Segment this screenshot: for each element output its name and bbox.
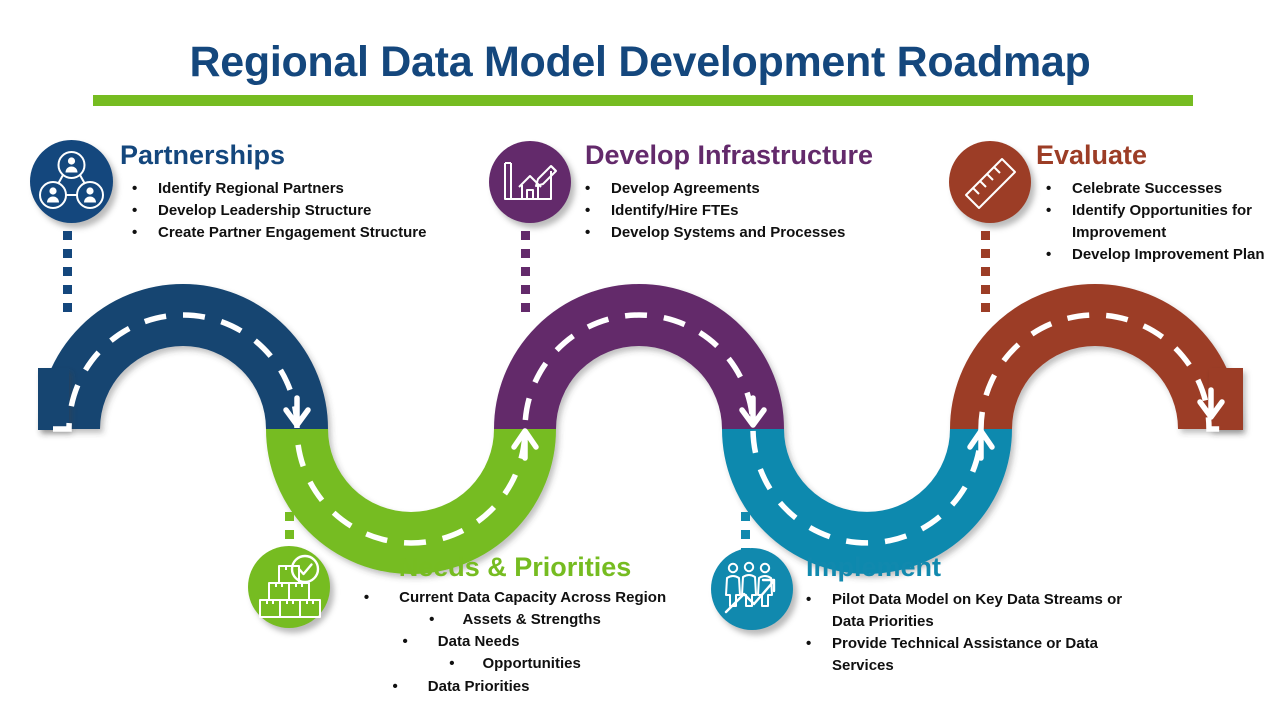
ruler-icon: [949, 141, 1031, 223]
stage-node-develop-infrastructure[interactable]: [489, 141, 571, 223]
bullet-glyph: •: [132, 222, 158, 244]
bullet-glyph: •: [1046, 178, 1072, 200]
stage-heading-partnerships: Partnerships: [120, 141, 540, 169]
list-item: •Pilot Data Model on Key Data Streams or…: [806, 589, 1151, 633]
blueprint-house-pencil-icon: [489, 141, 571, 223]
stage-block-partnerships: Partnerships •Identify Regional Partners…: [120, 141, 540, 244]
list-item: •Opportunities: [330, 653, 700, 675]
road-end-cap-right: [1209, 368, 1243, 430]
bullet-glyph: •: [585, 200, 611, 222]
stage-block-develop-infrastructure: Develop Infrastructure •Develop Agreemen…: [585, 141, 985, 244]
bullet-glyph: •: [393, 676, 398, 698]
road-end-cap-left: [38, 368, 69, 430]
list-item: •Data Needs: [330, 631, 700, 653]
stage-block-needs-priorities: Needs & Priorities •Current Data Capacit…: [330, 553, 700, 698]
list-item: •Data Priorities: [330, 676, 700, 698]
bullet-glyph: •: [806, 633, 832, 655]
list-item: •Celebrate Successes: [1046, 178, 1272, 200]
bullet-glyph: •: [449, 653, 454, 675]
bullet-glyph: •: [132, 178, 158, 200]
stage-heading-evaluate: Evaluate: [1036, 141, 1272, 169]
stage-node-implement[interactable]: [711, 548, 793, 630]
stage-bullets-implement: •Pilot Data Model on Key Data Streams or…: [806, 589, 1151, 677]
list-item: •Identify Regional Partners: [132, 178, 540, 200]
stage-bullets-partnerships: •Identify Regional Partners •Develop Lea…: [120, 178, 540, 244]
bullet-glyph: •: [429, 609, 434, 631]
stacked-boxes-check-icon: [248, 546, 330, 628]
road-segment-teal: [753, 429, 981, 543]
road-segment-navy: [69, 315, 297, 429]
bullet-glyph: •: [1046, 200, 1072, 222]
stage-heading-needs-priorities: Needs & Priorities: [330, 553, 700, 581]
stage-heading-develop-infrastructure: Develop Infrastructure: [585, 141, 985, 169]
people-network-icon: [30, 140, 113, 223]
stage-block-implement: Implement •Pilot Data Model on Key Data …: [806, 553, 1151, 678]
list-item: •Assets & Strengths: [330, 609, 700, 631]
bullet-glyph: •: [585, 222, 611, 244]
list-item: •Create Partner Engagement Structure: [132, 222, 540, 244]
stage-bullets-develop-infrastructure: •Develop Agreements •Identify/Hire FTEs …: [585, 178, 985, 244]
road-segment-brown: [981, 315, 1209, 429]
list-item: •Develop Leadership Structure: [132, 200, 540, 222]
bullet-glyph: •: [585, 178, 611, 200]
connector-evaluate: [981, 231, 990, 321]
stage-node-partnerships[interactable]: [30, 140, 113, 223]
bullet-glyph: •: [1046, 244, 1072, 266]
road-segment-green: [297, 429, 525, 543]
bullet-glyph: •: [806, 589, 832, 611]
road-segment-purple: [525, 315, 753, 429]
stage-node-needs-priorities[interactable]: [248, 546, 330, 628]
list-item: •Identify Opportunities for Improvement: [1046, 200, 1272, 244]
bullet-glyph: •: [364, 587, 369, 609]
list-item: •Develop Systems and Processes: [585, 222, 985, 244]
connector-develop-infrastructure: [521, 231, 530, 321]
stage-node-evaluate[interactable]: [949, 141, 1031, 223]
stage-block-evaluate: Evaluate •Celebrate Successes •Identify …: [1036, 141, 1272, 267]
list-item: •Current Data Capacity Across Region: [330, 587, 700, 609]
list-item: •Identify/Hire FTEs: [585, 200, 985, 222]
stage-heading-implement: Implement: [806, 553, 1151, 581]
roadmap-infographic: Regional Data Model Development Roadmap: [0, 0, 1280, 720]
list-item: •Provide Technical Assistance or Data Se…: [806, 633, 1151, 677]
bullet-glyph: •: [132, 200, 158, 222]
bullet-glyph: •: [403, 631, 408, 653]
connector-partnerships: [63, 231, 72, 321]
people-growth-arrow-icon: [711, 548, 793, 630]
list-item: •Develop Improvement Plan: [1046, 244, 1272, 266]
list-item: •Develop Agreements: [585, 178, 985, 200]
stage-bullets-needs-priorities: •Current Data Capacity Across Region •As…: [330, 587, 700, 697]
stage-bullets-evaluate: •Celebrate Successes •Identify Opportuni…: [1036, 178, 1272, 266]
